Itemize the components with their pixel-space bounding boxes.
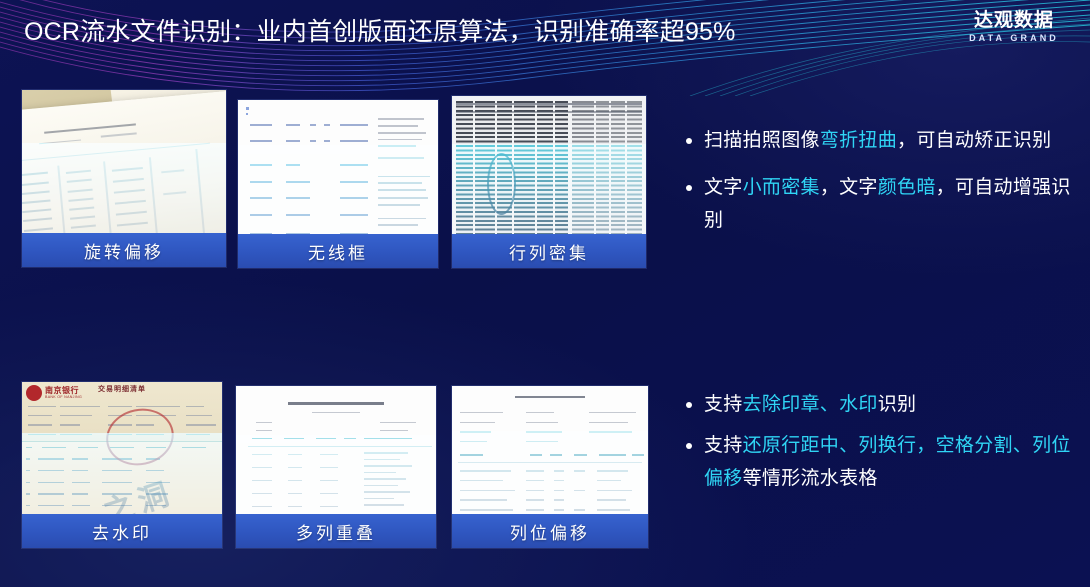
feature-bullet: 支持还原行距中、列换行，空格分割、列位偏移等情形流水表格 [684,429,1074,495]
bullet-highlight-text: 去除印章、水印 [743,394,878,415]
brand-name-en: DATA GRAND [954,32,1074,44]
bullet-text: 支持 [704,394,743,415]
card-caption: 无线框 [238,234,438,268]
bullet-text: 识别 [878,394,917,415]
sample-card-overlapping-columns[interactable]: 多列重叠 [236,386,436,548]
feature-bullets-top: 扫描拍照图像弯折扭曲，可自动矫正识别 文字小而密集，文字颜色暗，可自动增强识别 [684,124,1074,237]
card-caption: 多列重叠 [236,514,436,548]
bullet-text: 文字 [704,177,743,198]
brand-logo: 达观数据 DATA GRAND [954,10,1074,44]
card-caption: 旋转偏移 [22,233,226,267]
brand-name-cn: 达观数据 [954,10,1074,32]
bank-name-en: BANK OF NANJING [45,395,82,399]
bullet-highlight-text: 颜色暗 [878,177,936,198]
card-caption: 列位偏移 [452,514,648,548]
bullet-highlight-text: 弯折扭曲 [820,130,897,151]
card-caption: 行列密集 [452,234,646,268]
bullet-highlight-text: 小而密集 [743,177,820,198]
feature-bullet: 扫描拍照图像弯折扭曲，可自动矫正识别 [684,124,1074,157]
bullet-text: 等情形流水表格 [743,468,878,489]
slide-header: OCR流水文件识别：业内首创版面还原算法，识别准确率超95% 达观数据 DATA… [0,0,1090,62]
receipt-title: 交易明细清单 [22,384,222,394]
bullet-text: 扫描拍照图像 [704,130,820,151]
feature-bullets-bottom: 支持去除印章、水印识别 支持还原行距中、列换行，空格分割、列位偏移等情形流水表格 [684,388,1074,495]
sample-card-column-shift[interactable]: 列位偏移 [452,386,648,548]
feature-bullet: 文字小而密集，文字颜色暗，可自动增强识别 [684,171,1074,237]
bullet-text: 支持 [704,435,743,456]
feature-bullet: 支持去除印章、水印识别 [684,388,1074,421]
sample-card-dense-rows-columns[interactable]: 行列密集 [452,96,646,268]
sample-card-remove-watermark[interactable]: 南京银行 BANK OF NANJING 交易明细清单 [22,382,222,548]
sample-card-rotation-offset[interactable]: 旋转偏移 [22,90,226,267]
page-title: OCR流水文件识别：业内首创版面还原算法，识别准确率超95% [24,17,736,47]
card-caption: 去水印 [22,514,222,548]
sample-card-borderless-table[interactable]: 无线框 [238,100,438,268]
bullet-text: ，可自动矫正识别 [897,130,1051,151]
bullet-text: ，文字 [820,177,878,198]
